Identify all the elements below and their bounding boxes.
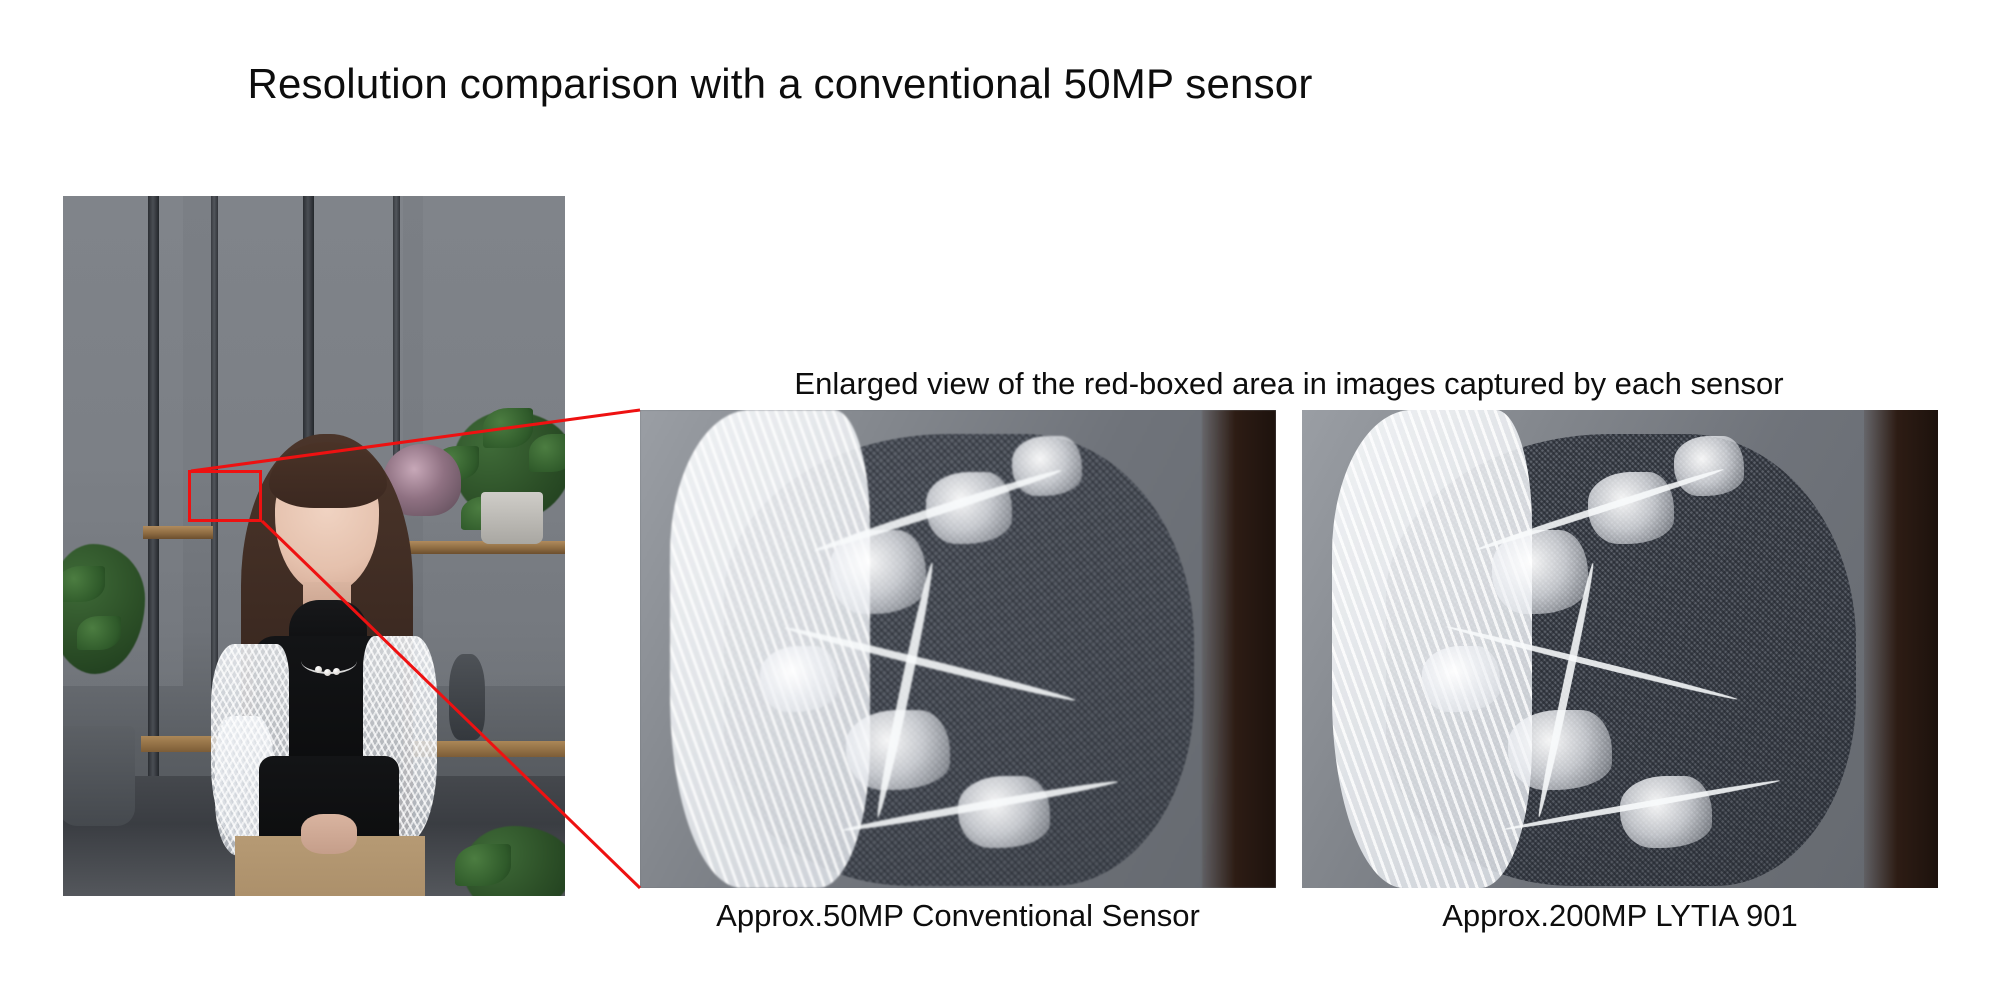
hands — [301, 814, 357, 854]
plant-leaf-bottom — [455, 844, 511, 886]
table-lamp — [449, 654, 485, 740]
macro-lace-edge — [670, 410, 870, 888]
necklace-pearl — [333, 668, 340, 675]
macro-lace-edge — [1332, 410, 1532, 888]
crop-panel-lytia — [1302, 410, 1938, 888]
lace-floral-motif — [1012, 436, 1082, 496]
macro-hair-edge — [1864, 410, 1938, 888]
macro-hair-edge — [1202, 410, 1276, 888]
macro-image-conventional — [640, 410, 1276, 888]
lace-floral-motif — [1620, 776, 1712, 848]
enlarged-view-caption: Enlarged view of the red-boxed area in i… — [640, 366, 1938, 402]
lace-floral-motif — [1422, 646, 1500, 712]
reference-photo — [63, 196, 565, 896]
plant-pot-left — [63, 726, 135, 826]
lace-floral-motif — [958, 776, 1050, 848]
shelf-board-upper — [143, 526, 213, 539]
crop-panel-conventional — [640, 410, 1276, 888]
lace-floral-motif — [1674, 436, 1744, 496]
plant-leaf-c — [529, 434, 565, 472]
lace-floral-motif — [1492, 530, 1588, 614]
plant-leaf-left-b — [77, 616, 121, 650]
lace-floral-motif — [760, 646, 838, 712]
shelf-post-1 — [148, 196, 159, 816]
necklace-pearl — [315, 666, 322, 673]
necklace-pearl — [324, 669, 331, 676]
red-region-box — [188, 470, 262, 522]
plant-leaf-b — [483, 408, 533, 448]
crop-label-conventional: Approx.50MP Conventional Sensor — [640, 898, 1276, 934]
plant-pot-right — [481, 492, 543, 544]
shelf-board-lower — [141, 736, 221, 752]
crop-label-lytia: Approx.200MP LYTIA 901 — [1302, 898, 1938, 934]
macro-image-lytia — [1302, 410, 1938, 888]
photo-scene — [63, 196, 565, 896]
page-title: Resolution comparison with a conventiona… — [0, 60, 1560, 108]
